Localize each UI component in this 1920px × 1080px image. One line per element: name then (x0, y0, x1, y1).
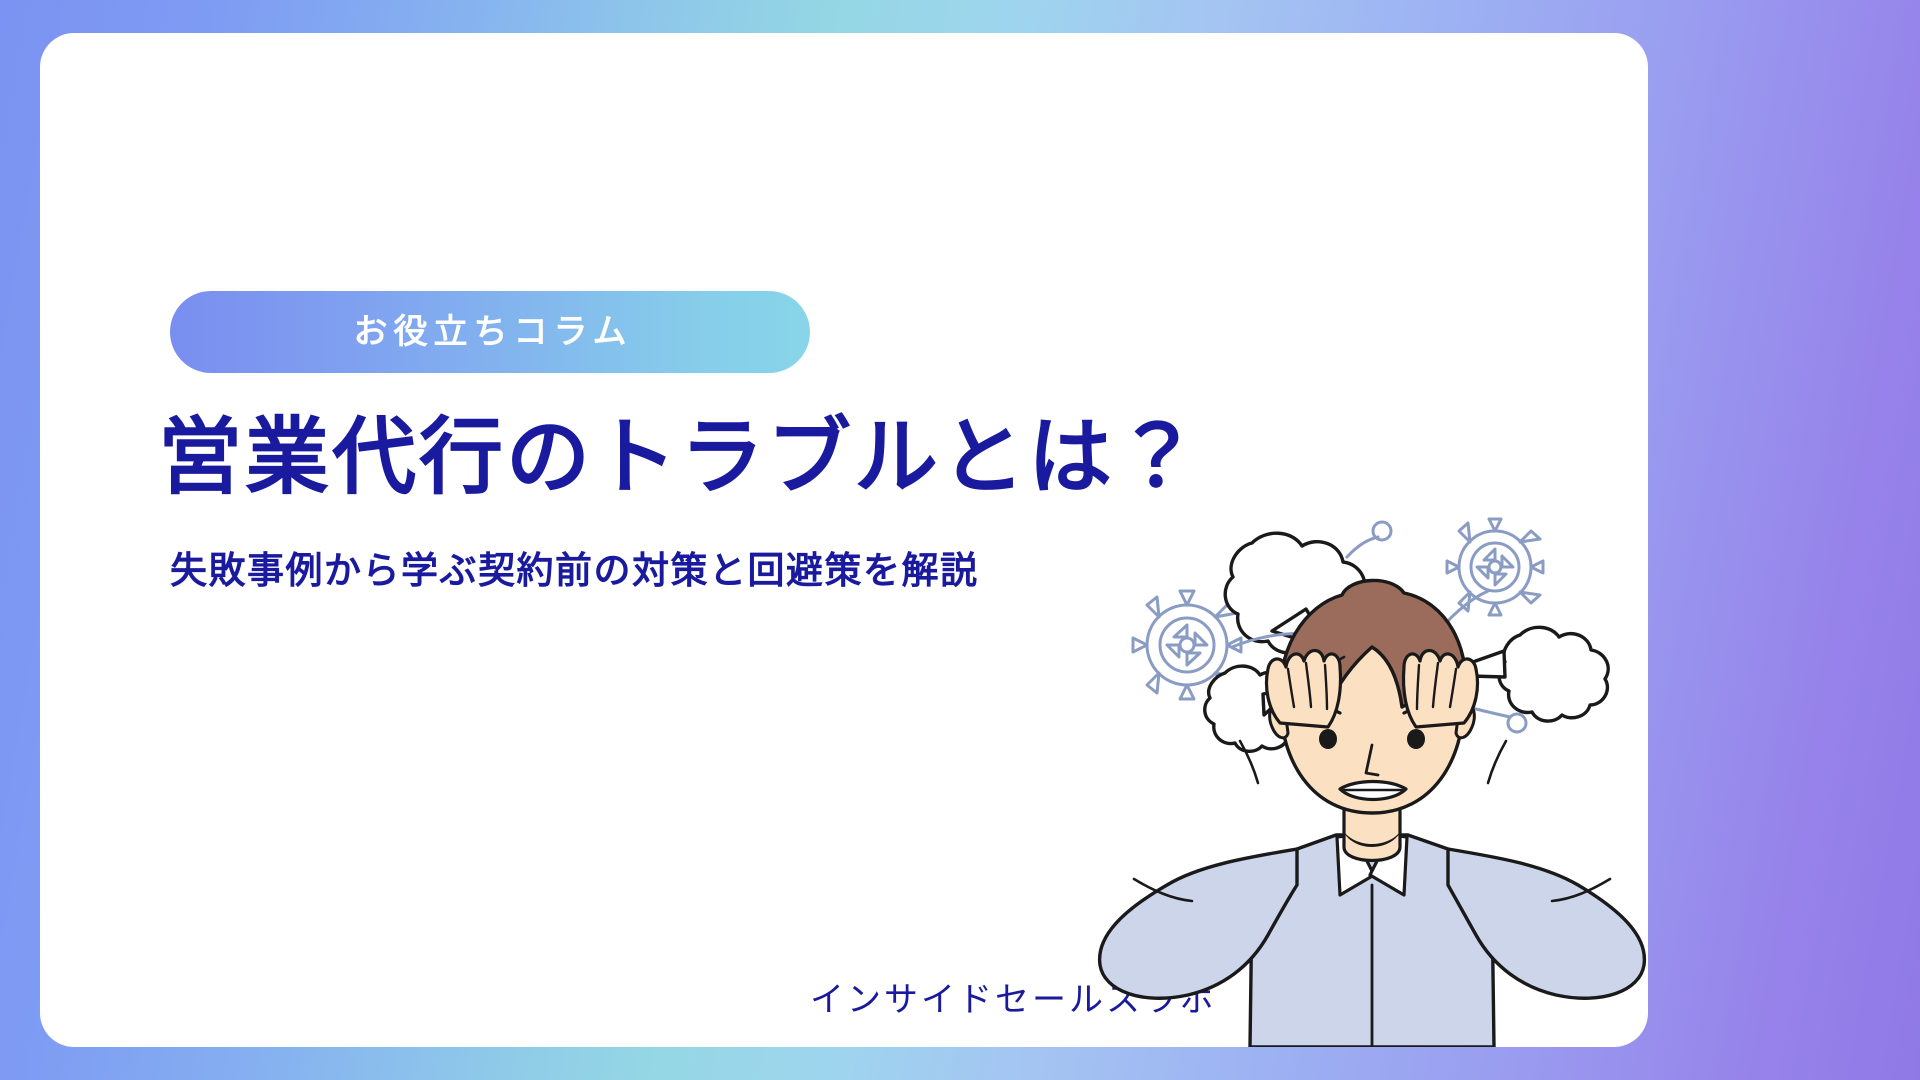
category-badge: お役立ちコラム (170, 291, 810, 373)
page-title: 営業代行のトラブルとは？ (158, 411, 1202, 503)
stressed-man-illustration (1092, 517, 1648, 1047)
left-hand (1267, 651, 1341, 728)
gear-top-right-icon (1447, 519, 1543, 615)
right-eye (1407, 729, 1425, 749)
left-eye (1319, 729, 1337, 749)
right-hand (1404, 651, 1478, 728)
small-circle-right (1508, 714, 1526, 732)
category-badge-label: お役立ちコラム (348, 315, 633, 349)
steam-cloud-right-icon (1499, 627, 1608, 721)
right-cuff-line (1488, 741, 1506, 783)
stressed-man-graphic (1092, 517, 1648, 1047)
small-circle-left (1373, 522, 1391, 540)
page-subtitle: 失敗事例から学ぶ契約前の対策と回避策を解説 (170, 549, 979, 593)
motion-arc-top (1347, 537, 1378, 557)
content-card: お役立ちコラム 営業代行のトラブルとは？ 失敗事例から学ぶ契約前の対策と回避策を… (40, 33, 1648, 1047)
